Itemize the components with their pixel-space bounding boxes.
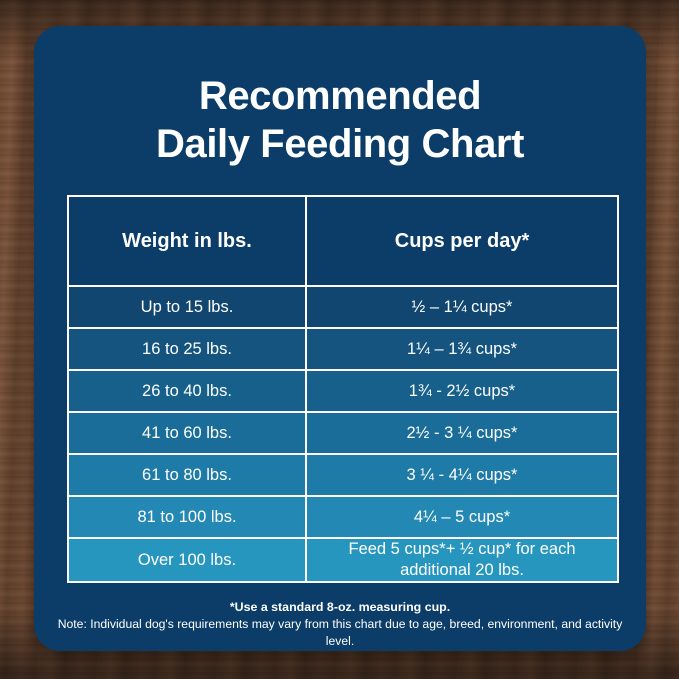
column-header-cups: Cups per day* — [306, 196, 618, 286]
table-row: 16 to 25 lbs. 1¼ – 1¾ cups* — [68, 328, 618, 370]
cell-weight: 61 to 80 lbs. — [68, 454, 306, 496]
column-header-weight: Weight in lbs. — [68, 196, 306, 286]
feeding-chart-card: Recommended Daily Feeding Chart Weight i… — [34, 26, 646, 651]
table-row: 61 to 80 lbs. 3 ¼ - 4¼ cups* — [68, 454, 618, 496]
footnote-line-1: *Use a standard 8-oz. measuring cup. — [56, 599, 624, 616]
table-row: Up to 15 lbs. ½ – 1¼ cups* — [68, 286, 618, 328]
cell-weight: 81 to 100 lbs. — [68, 496, 306, 538]
cell-weight: 26 to 40 lbs. — [68, 370, 306, 412]
cell-cups: 3 ¼ - 4¼ cups* — [306, 454, 618, 496]
cell-cups: 1¼ – 1¾ cups* — [306, 328, 618, 370]
cell-cups: 2½ - 3 ¼ cups* — [306, 412, 618, 454]
table-row: 26 to 40 lbs. 1¾ - 2½ cups* — [68, 370, 618, 412]
title-line-1: Recommended — [199, 74, 481, 118]
table-row: Over 100 lbs. Feed 5 cups*+ ½ cup* for e… — [68, 538, 618, 582]
page-title: Recommended Daily Feeding Chart — [34, 26, 646, 168]
cell-weight: 16 to 25 lbs. — [68, 328, 306, 370]
cell-weight: 41 to 60 lbs. — [68, 412, 306, 454]
cell-cups-line-2: additional 20 lbs. — [307, 560, 617, 581]
footnotes: *Use a standard 8-oz. measuring cup. Not… — [34, 599, 646, 651]
cell-weight: Over 100 lbs. — [68, 538, 306, 582]
feeding-table: Weight in lbs. Cups per day* Up to 15 lb… — [67, 195, 619, 583]
table-row: 81 to 100 lbs. 4¼ – 5 cups* — [68, 496, 618, 538]
cell-cups: Feed 5 cups*+ ½ cup* for each additional… — [306, 538, 618, 582]
footnote-line-2: Note: Individual dog's requirements may … — [56, 616, 624, 650]
table-header: Weight in lbs. Cups per day* — [68, 196, 618, 286]
cell-cups: ½ – 1¼ cups* — [306, 286, 618, 328]
table-row: 41 to 60 lbs. 2½ - 3 ¼ cups* — [68, 412, 618, 454]
cell-weight: Up to 15 lbs. — [68, 286, 306, 328]
cell-cups-line-1: Feed 5 cups*+ ½ cup* for each — [307, 539, 617, 560]
cell-cups: 1¾ - 2½ cups* — [306, 370, 618, 412]
title-line-2: Daily Feeding Chart — [74, 120, 606, 168]
footnote-line-3: Adjust food as required to maintain opti… — [56, 650, 624, 651]
table-body: Up to 15 lbs. ½ – 1¼ cups* 16 to 25 lbs.… — [68, 286, 618, 582]
table-header-row: Weight in lbs. Cups per day* — [68, 196, 618, 286]
cell-cups: 4¼ – 5 cups* — [306, 496, 618, 538]
